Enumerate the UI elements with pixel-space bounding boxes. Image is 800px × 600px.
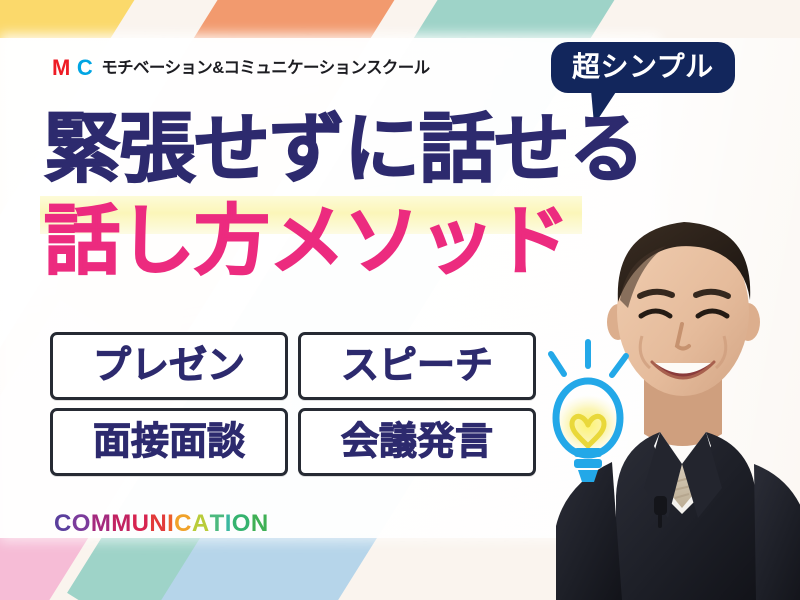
wordmark-letter: M — [91, 512, 111, 536]
headline-block: 緊張せずに話せる 話し方メソッド — [44, 112, 784, 280]
wordmark-letter: C — [54, 512, 72, 536]
wordmark-letter: M — [111, 512, 131, 536]
tag-label: スピーチ — [341, 347, 493, 385]
headline-line-1: 緊張せずに話せる — [44, 107, 644, 192]
wordmark-letter: N — [149, 512, 167, 536]
headline-line-2: 話し方メソッド — [44, 204, 784, 280]
tag-box-speech[interactable]: スピーチ — [298, 332, 536, 400]
badge-bubble: 超シンプル — [551, 42, 735, 93]
communication-wordmark: COMMUNICATION — [54, 512, 269, 536]
wordmark-letter: C — [174, 512, 192, 536]
lightbulb-icon — [534, 336, 646, 488]
wordmark-letter: A — [192, 512, 210, 536]
badge-label: 超シンプル — [572, 53, 714, 81]
logo-mark-m: M — [52, 57, 70, 79]
school-logo: M C モチベーション&コミュニケーションスクール — [52, 57, 430, 79]
promotional-banner: M C モチベーション&コミュニケーションスクール 超シンプル 緊張せずに話せる… — [0, 0, 800, 600]
tag-label: 面接面談 — [93, 423, 245, 461]
tag-box-interview[interactable]: 面接面談 — [50, 408, 288, 476]
headline-row: 緊張せずに話せる 話し方メソッド — [44, 112, 784, 280]
simple-badge: 超シンプル — [551, 42, 735, 93]
lightbulb-rays-icon — [551, 342, 626, 375]
tag-box-presentation[interactable]: プレゼン — [50, 332, 288, 400]
wordmark-letter: T — [210, 512, 225, 536]
tag-box-meeting[interactable]: 会議発言 — [298, 408, 536, 476]
school-name: モチベーション&コミュニケーションスクール — [101, 60, 429, 77]
wordmark-letter: N — [251, 512, 269, 536]
wordmark-letter: O — [232, 512, 251, 536]
wordmark-letter: I — [167, 512, 174, 536]
wordmark-letter: I — [225, 512, 232, 536]
logo-mark-c: C — [77, 57, 92, 79]
wordmark-letter: O — [72, 512, 91, 536]
wordmark-letter: U — [132, 512, 150, 536]
tag-label: プレゼン — [93, 347, 245, 385]
keyword-tag-grid: プレゼン スピーチ 面接面談 会議発言 — [50, 332, 536, 476]
tag-label: 会議発言 — [341, 423, 493, 461]
